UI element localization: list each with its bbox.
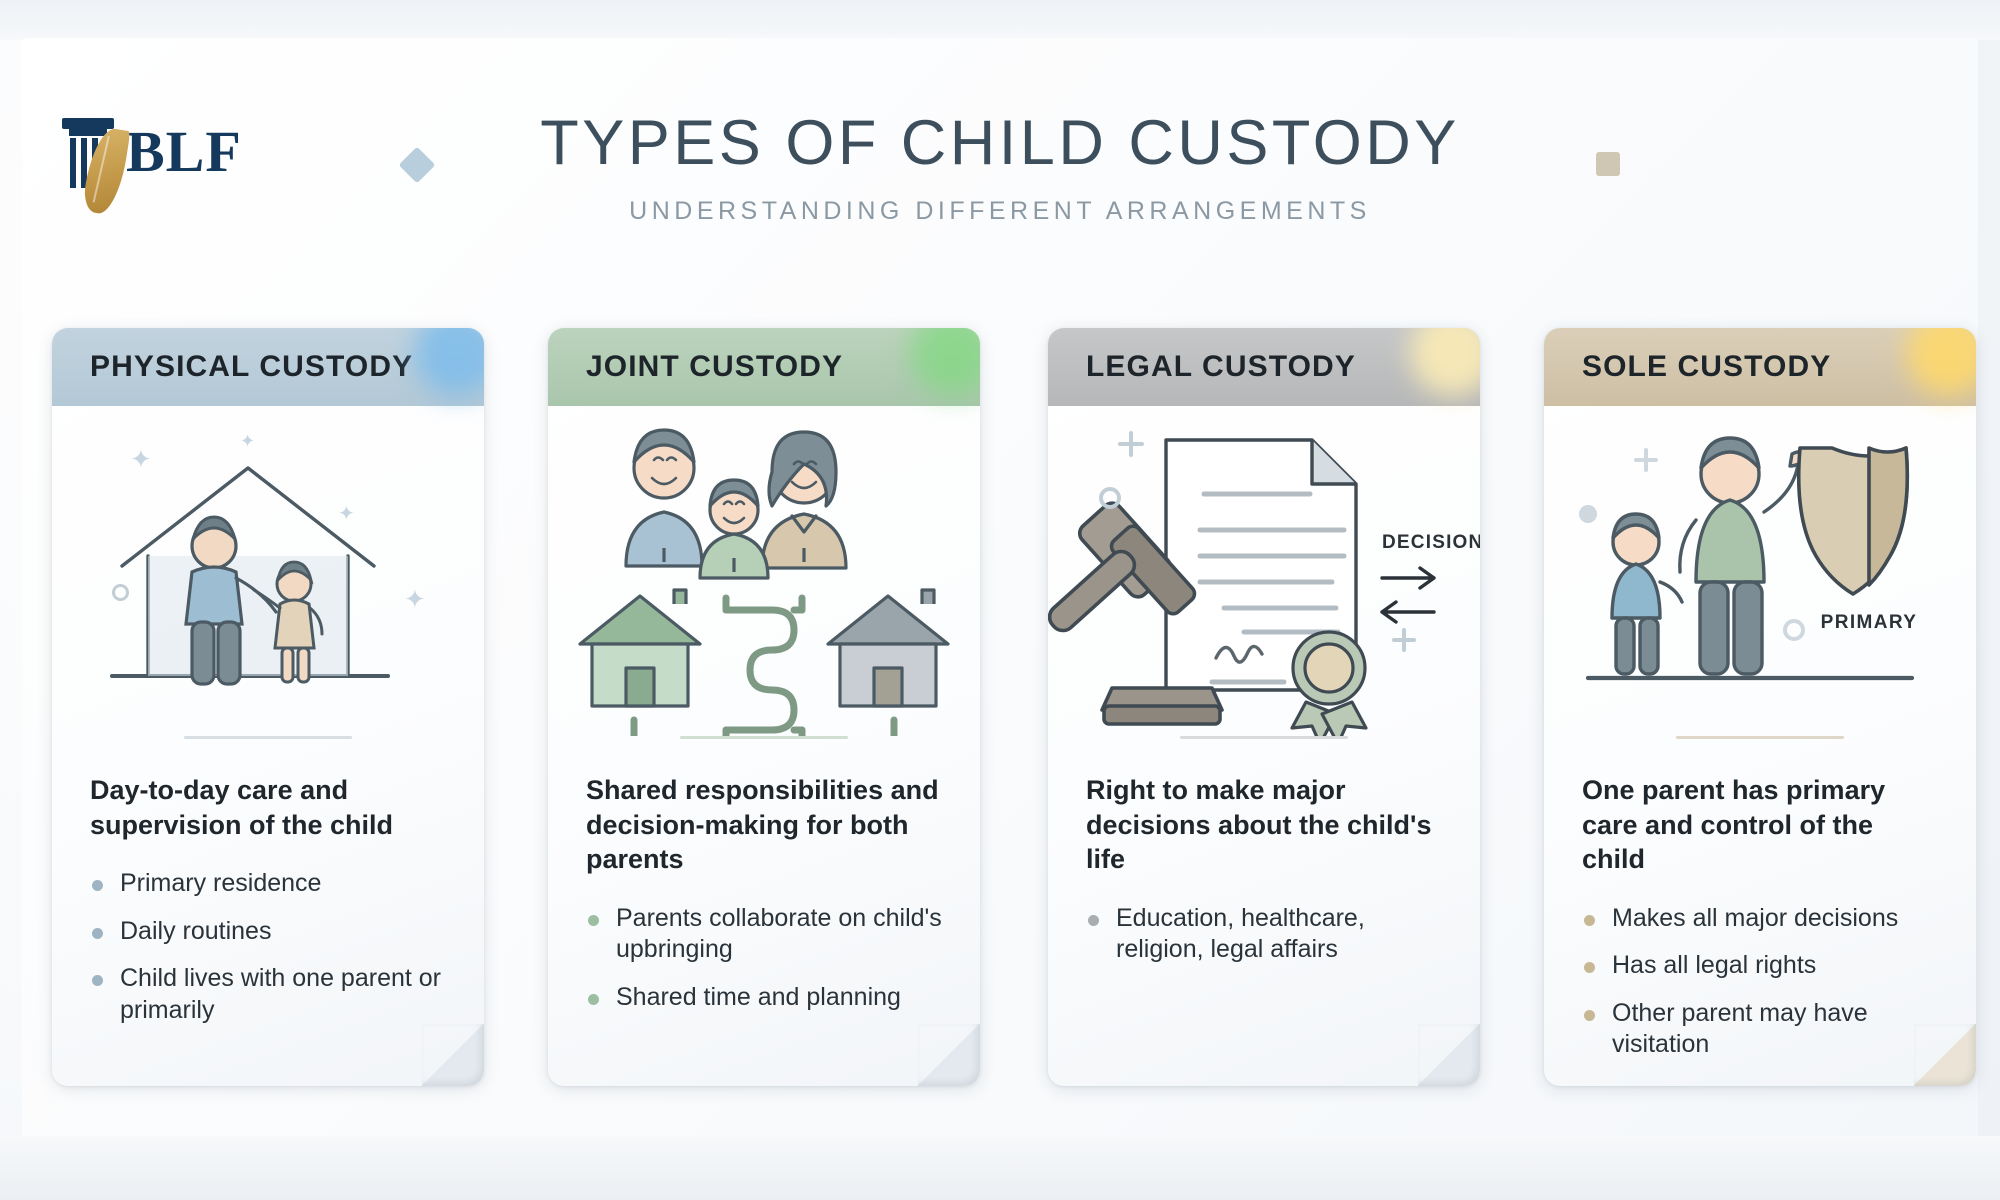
card-title: LEGAL CUSTODY [1086, 350, 1356, 384]
list-item: Makes all major decisions [1582, 903, 1938, 935]
card-description: Shared responsibilities and decision-mak… [586, 773, 942, 877]
card-header: PHYSICAL CUSTODY [52, 328, 484, 406]
page-subtitle: UNDERSTANDING DIFFERENT ARRANGEMENTS [0, 197, 2000, 226]
list-item: Child lives with one parent or primarily [90, 963, 446, 1026]
cards-row: PHYSICAL CUSTODY [0, 328, 2000, 1088]
card-bullet-list: Makes all major decisions Has all legal … [1582, 903, 1938, 1061]
card-title: PHYSICAL CUSTODY [90, 350, 413, 384]
card-description: Right to make major decisions about the … [1086, 773, 1442, 877]
bottom-strip [0, 1136, 2000, 1200]
card-description: Day-to-day care and supervision of the c… [90, 773, 446, 842]
page-curl [918, 1024, 980, 1086]
card-bullet-list: Education, healthcare, religion, legal a… [1086, 903, 1442, 966]
family-two-homes-connected-icon [548, 406, 980, 736]
page-curl [422, 1024, 484, 1086]
card-bullet-list: Parents collaborate on child's upbringin… [586, 903, 942, 1014]
list-item: Has all legal rights [1582, 950, 1938, 982]
page-curl [1418, 1024, 1480, 1086]
page-title: TYPES OF CHILD CUSTODY [0, 112, 2000, 175]
list-item: Daily routines [90, 916, 446, 948]
page-curl [1914, 1024, 1976, 1086]
card-description: One parent has primary care and control … [1582, 773, 1938, 877]
parent-child-shield-icon: PRIMARY [1544, 406, 1976, 736]
card-joint-custody[interactable]: JOINT CUSTODY [548, 328, 980, 1086]
list-item: Other parent may have visitation [1582, 998, 1938, 1061]
gavel-document-seal-icon: DECISIONS [1048, 406, 1480, 736]
card-header: JOINT CUSTODY [548, 328, 980, 406]
card-sole-custody[interactable]: SOLE CUSTODY [1544, 328, 1976, 1086]
card-header: LEGAL CUSTODY [1048, 328, 1480, 406]
card-header: SOLE CUSTODY [1544, 328, 1976, 406]
header: TYPES OF CHILD CUSTODY UNDERSTANDING DIF… [0, 112, 2000, 226]
card-title: JOINT CUSTODY [586, 350, 843, 384]
illustration-label: PRIMARY [1821, 612, 1918, 633]
list-item: Primary residence [90, 868, 446, 900]
parent-and-child-in-house-icon: ✦ ✦ ✦ ✦ [52, 406, 484, 736]
card-legal-custody[interactable]: LEGAL CUSTODY [1048, 328, 1480, 1086]
list-item: Parents collaborate on child's upbringin… [586, 903, 942, 966]
list-item: Shared time and planning [586, 982, 942, 1014]
infographic-canvas: BLF TYPES OF CHILD CUSTODY UNDERSTANDING… [0, 0, 2000, 1200]
top-strip [0, 0, 2000, 40]
card-bullet-list: Primary residence Daily routines Child l… [90, 868, 446, 1026]
list-item: Education, healthcare, religion, legal a… [1086, 903, 1442, 966]
illustration-label: DECISIONS [1382, 532, 1480, 553]
card-physical-custody[interactable]: PHYSICAL CUSTODY [52, 328, 484, 1086]
card-title: SOLE CUSTODY [1582, 350, 1831, 384]
